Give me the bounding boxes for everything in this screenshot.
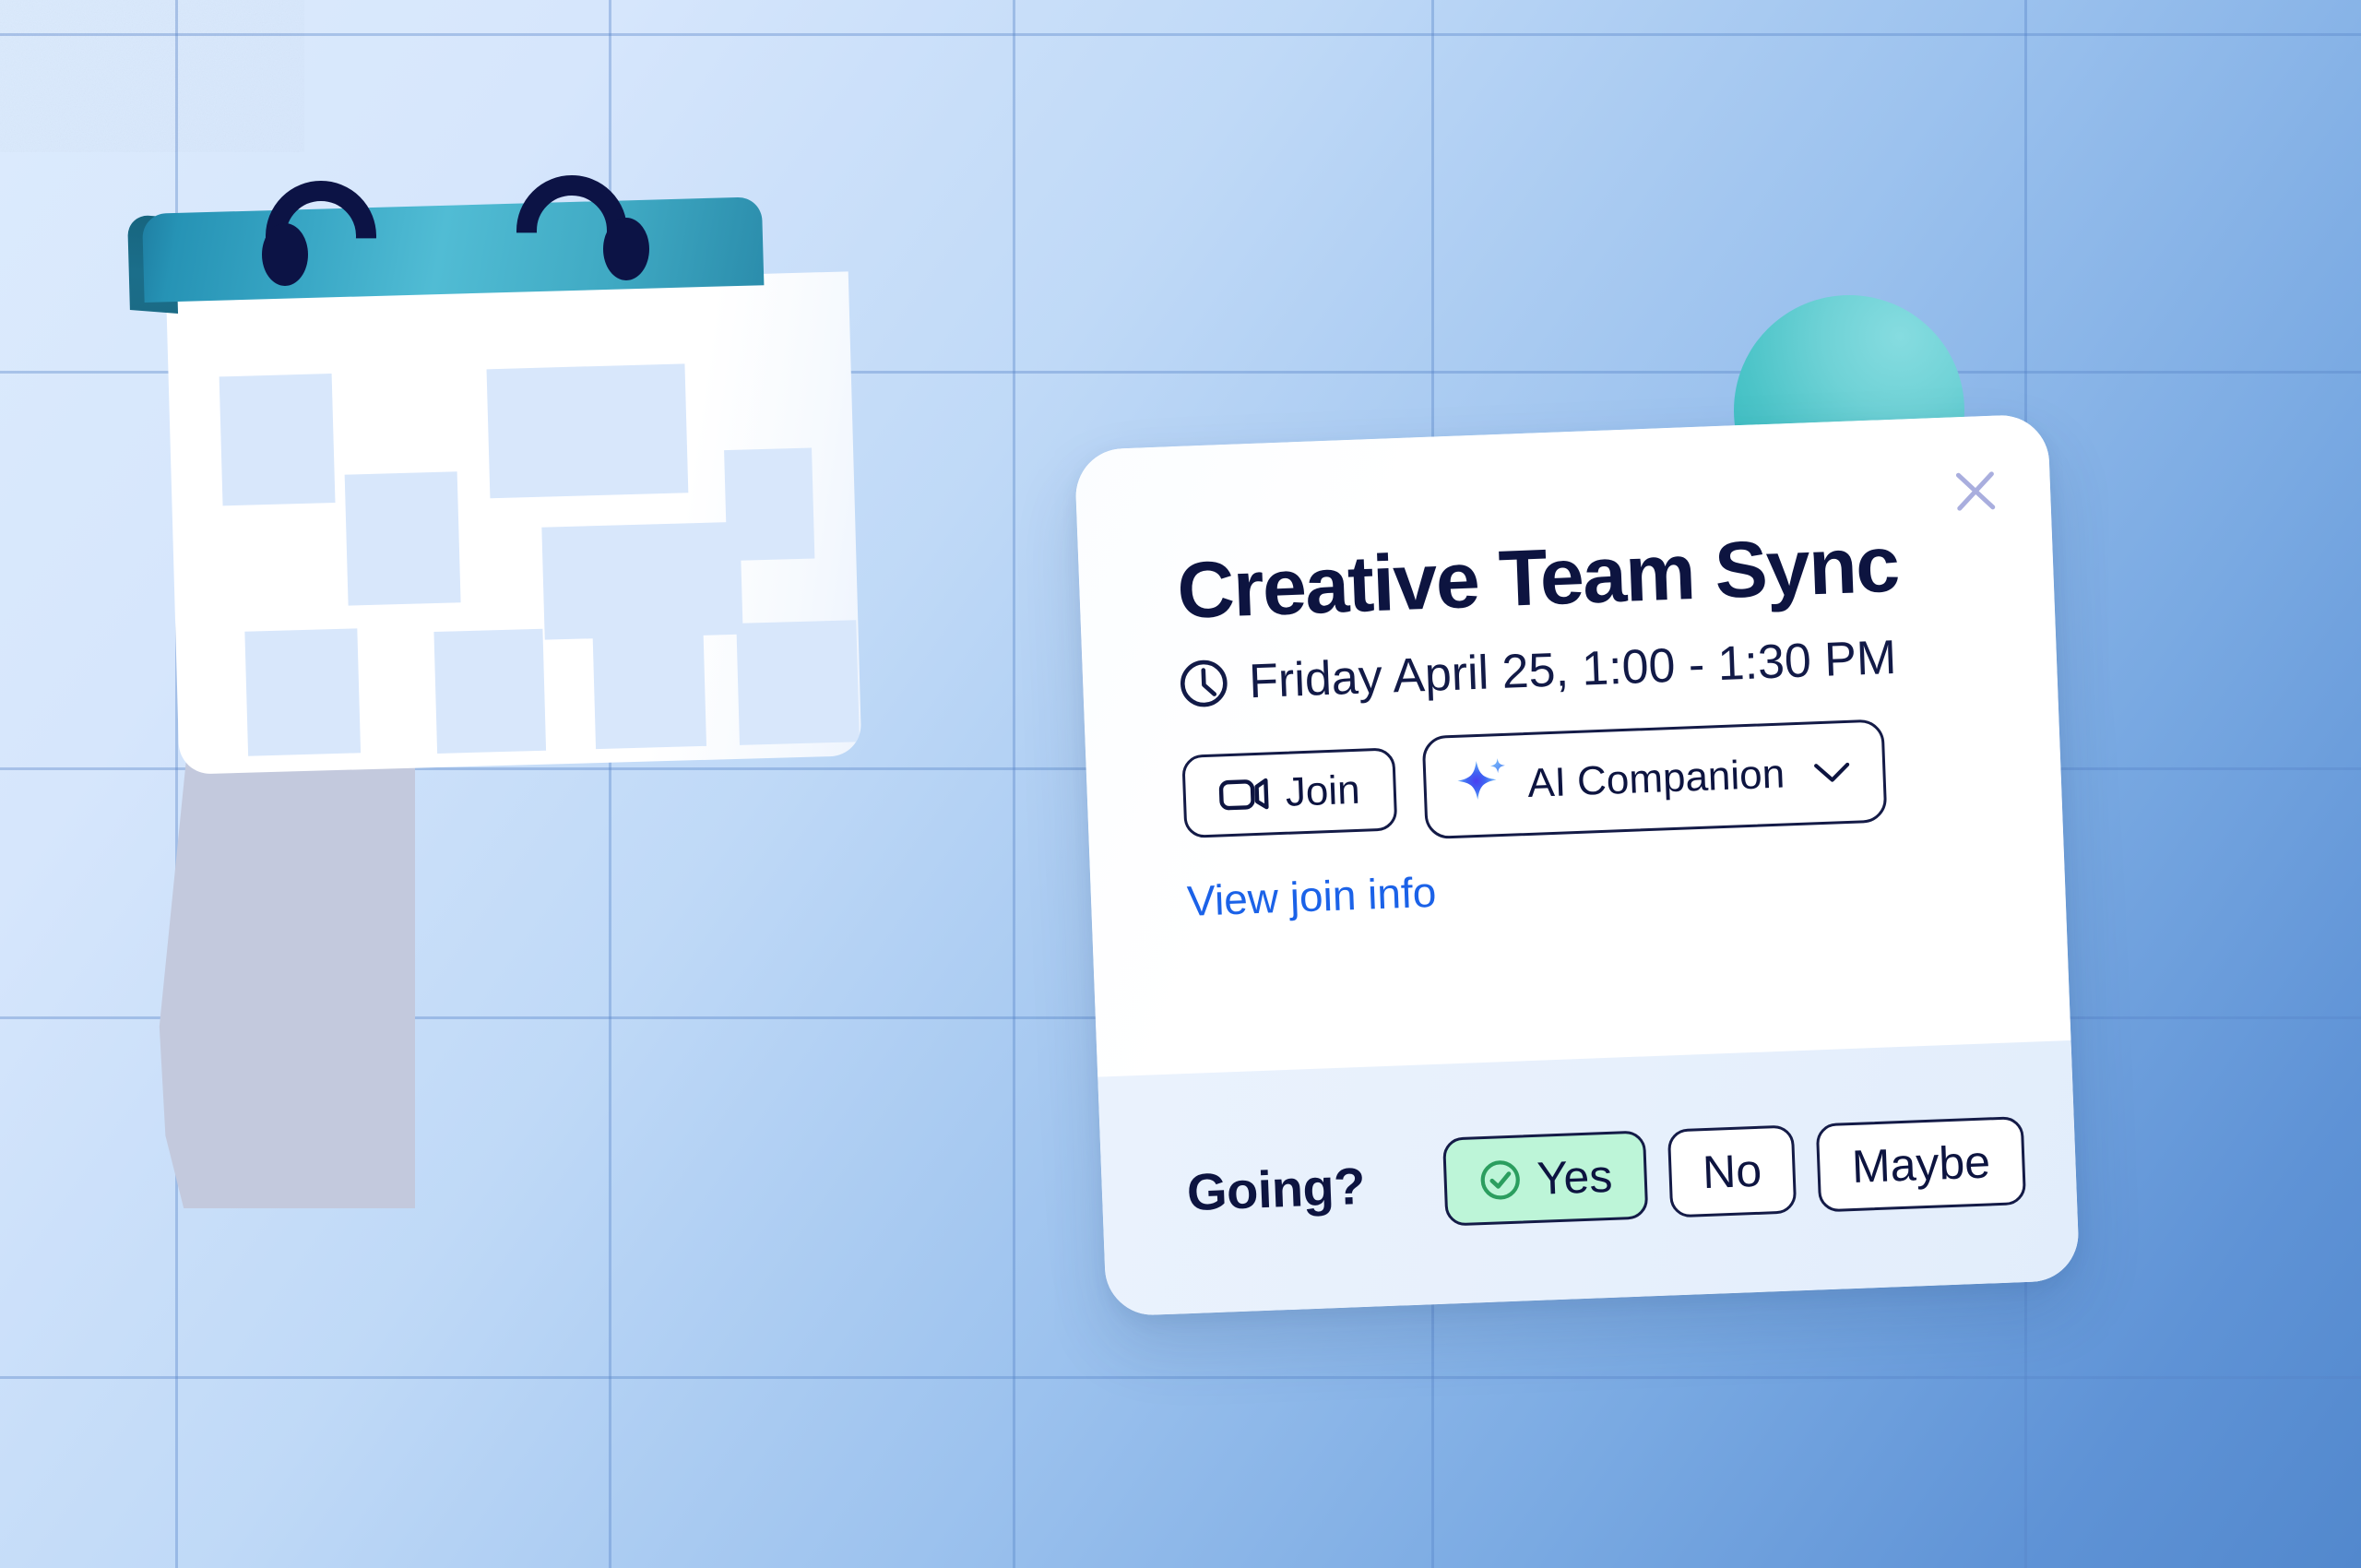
calendar-event-block bbox=[244, 628, 361, 755]
video-camera-icon bbox=[1218, 775, 1269, 814]
join-button-label: Join bbox=[1285, 770, 1360, 814]
ai-companion-label: AI Companion bbox=[1527, 754, 1786, 804]
calendar-ring-bead bbox=[603, 218, 649, 280]
calendar-event-block bbox=[433, 629, 546, 754]
close-icon bbox=[1953, 469, 1998, 514]
calendar-event-block bbox=[724, 448, 814, 562]
rsvp-no-button[interactable]: No bbox=[1667, 1124, 1797, 1218]
check-circle-icon bbox=[1477, 1157, 1524, 1203]
calendar-header bbox=[142, 196, 764, 303]
rsvp-label: Going? bbox=[1186, 1155, 1366, 1221]
rsvp-yes-label: Yes bbox=[1536, 1153, 1613, 1202]
rsvp-yes-button[interactable]: Yes bbox=[1442, 1130, 1648, 1226]
grain-texture bbox=[0, 0, 277, 138]
calendar-event-block bbox=[592, 619, 706, 749]
grid-line-horizontal bbox=[0, 33, 2361, 36]
calendar-event-block bbox=[345, 471, 461, 605]
clock-icon bbox=[1178, 658, 1229, 709]
ai-companion-button[interactable]: AI Companion bbox=[1421, 719, 1887, 839]
rsvp-maybe-label: Maybe bbox=[1851, 1138, 1991, 1190]
join-button[interactable]: Join bbox=[1181, 747, 1397, 838]
calendar-event-block bbox=[487, 363, 689, 498]
calendar-event-block bbox=[736, 620, 860, 745]
calendar-event-block bbox=[219, 374, 336, 505]
sparkle-star-icon bbox=[1453, 756, 1512, 815]
view-join-info-link[interactable]: View join info bbox=[1186, 867, 1437, 926]
calendar-page bbox=[166, 271, 861, 774]
calendar-ring-bead bbox=[262, 223, 308, 286]
event-detail-card: Creative Team Sync Friday April 25, 1:00… bbox=[1074, 414, 2081, 1317]
close-button[interactable] bbox=[1948, 463, 2003, 518]
grid-line-horizontal bbox=[0, 1376, 2361, 1379]
rsvp-maybe-button[interactable]: Maybe bbox=[1816, 1116, 2026, 1212]
chevron-down-icon bbox=[1812, 760, 1852, 786]
illustration-canvas: Creative Team Sync Friday April 25, 1:00… bbox=[0, 0, 2361, 1568]
rsvp-no-label: No bbox=[1702, 1147, 1762, 1195]
